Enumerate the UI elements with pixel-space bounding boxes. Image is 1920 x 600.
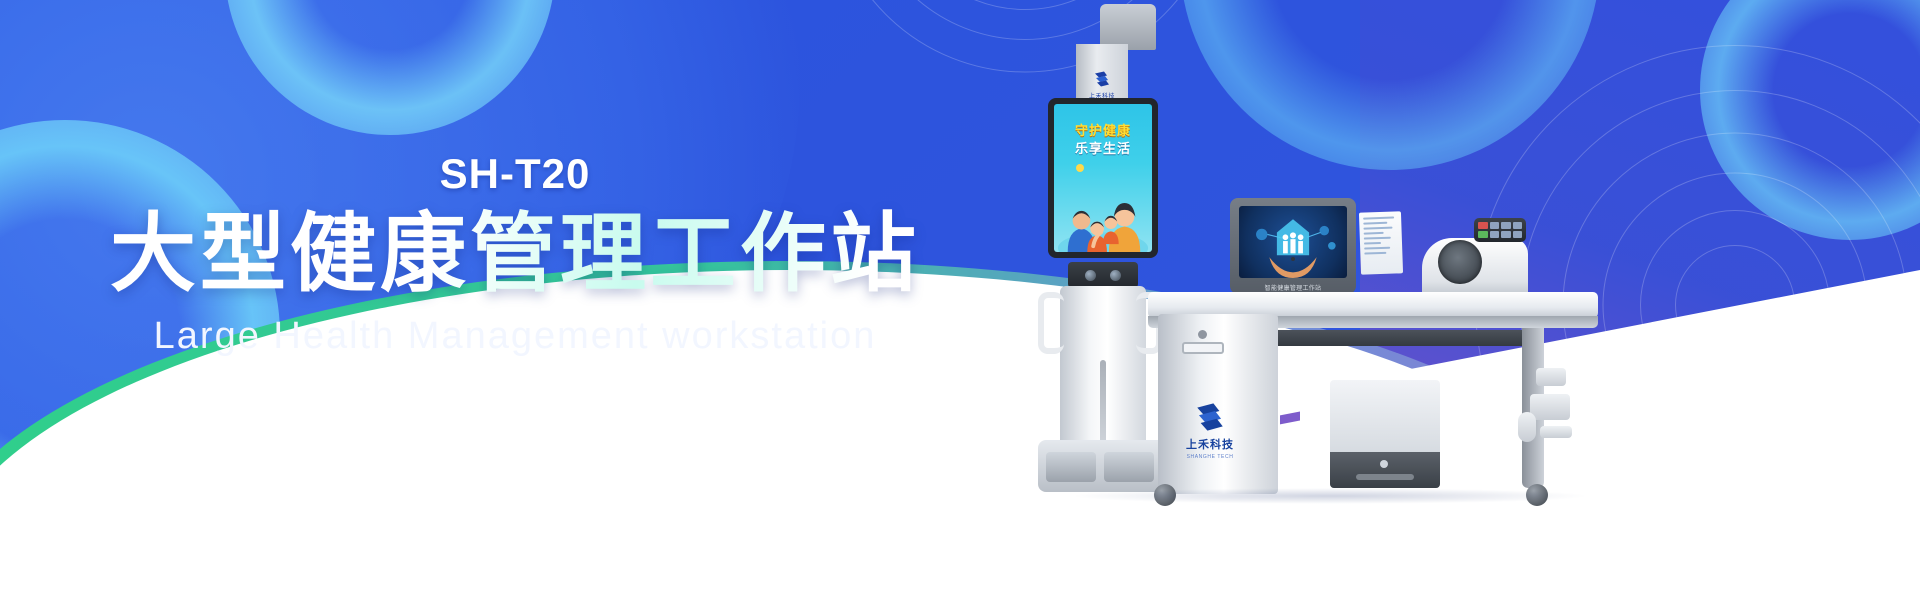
page-title: 大型健康管理工作站 [0, 208, 1030, 301]
foot-pad-left [1046, 452, 1096, 482]
bp-key-1[interactable] [1490, 222, 1500, 229]
shanghe-logo-icon [1193, 400, 1227, 434]
brochure-holder [1359, 211, 1403, 274]
bp-arm-cuff [1438, 240, 1482, 284]
bp-key-5[interactable] [1501, 231, 1511, 238]
page-subtitle: Large Health Management workstation [0, 315, 1030, 358]
bp-key-3[interactable] [1513, 222, 1523, 229]
caddy-cup-holder [1518, 412, 1536, 442]
foot-pad-right [1104, 452, 1154, 482]
bp-keypad[interactable] [1474, 218, 1526, 242]
bp-key-start[interactable] [1478, 222, 1488, 229]
bp-key-ok[interactable] [1478, 231, 1488, 238]
headline-block: SH-T20 大型健康管理工作站 Large Health Management… [0, 150, 1030, 358]
printer-power-button[interactable] [1380, 460, 1388, 468]
cabinet-card-slot[interactable] [1182, 342, 1224, 354]
accessory-caddy [1516, 368, 1572, 478]
product-banner: SH-T20 大型健康管理工作站 Large Health Management… [0, 0, 1920, 600]
printer-output-tray [1330, 452, 1440, 488]
blood-pressure-monitor [1422, 218, 1528, 300]
kiosk-display-frame: 守护健康 乐享生活 [1048, 98, 1158, 258]
cabinet-lock-icon[interactable] [1198, 330, 1207, 339]
printer-tray-lip [1356, 474, 1414, 480]
cabinet-brand-cn: 上禾科技 [1186, 436, 1234, 452]
product-shadow [1070, 488, 1590, 504]
sensor-lens-icon [1110, 270, 1121, 281]
kiosk-display-screen[interactable]: 守护健康 乐享生活 [1054, 104, 1152, 252]
screen-headline-line1: 守护健康 [1054, 120, 1152, 139]
kiosk-handle-left[interactable] [1038, 292, 1064, 354]
health-hands-icon [1239, 206, 1347, 278]
product-image-group: 上禾科技 SHANGHE TECH 守护健康 乐享生活 [1030, 0, 1920, 600]
cabinet-brand-en: SHANGHE TECH [1187, 454, 1234, 460]
kiosk-center-slot [1100, 360, 1106, 446]
family-illustration-icon [1054, 166, 1152, 252]
caddy-tray-mid [1530, 394, 1570, 420]
camera-lens-icon [1085, 270, 1096, 281]
bp-key-6[interactable] [1513, 231, 1523, 238]
model-number: SH-T20 [0, 150, 1030, 198]
screen-headline-line2: 乐享生活 [1054, 138, 1152, 157]
monitor-caption: 智能健康管理工作站 [1230, 283, 1356, 292]
monitor-indicator-dot [1291, 257, 1295, 261]
caddy-tray-top [1536, 368, 1566, 386]
caddy-tray-bottom [1540, 426, 1572, 438]
shanghe-logo-icon [1092, 69, 1112, 89]
bp-key-4[interactable] [1490, 231, 1500, 238]
desk-monitor: 智能健康管理工作站 [1230, 198, 1356, 294]
bp-key-2[interactable] [1501, 222, 1511, 229]
kiosk-sensor-bar [1068, 262, 1138, 288]
cabinet-brand-block: 上禾科技 SHANGHE TECH [1170, 400, 1250, 460]
desk-monitor-screen[interactable] [1239, 206, 1347, 278]
